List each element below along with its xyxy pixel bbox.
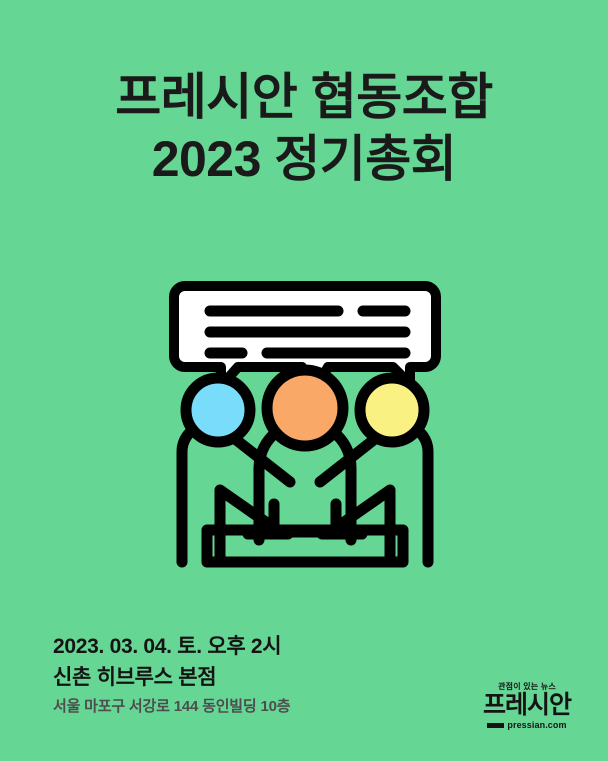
event-venue: 신촌 히브루스 본점 xyxy=(53,662,433,694)
table-shape xyxy=(207,530,403,562)
meeting-illustration xyxy=(160,272,450,572)
person-center xyxy=(248,370,362,540)
event-address: 서울 마포구 서강로 144 동인빌딩 10층 xyxy=(53,694,433,720)
event-date: 2023. 03. 04. 토. 오후 2시 xyxy=(53,632,433,662)
page-title: 프레시안 협동조합 2023 정기총회 xyxy=(0,66,608,190)
logo-bar-icon xyxy=(487,723,504,728)
logo-url-row: pressian.com xyxy=(478,720,576,731)
title-line-1: 프레시안 협동조합 xyxy=(0,66,608,128)
title-line-2: 2023 정기총회 xyxy=(0,128,608,190)
logo-url: pressian.com xyxy=(507,720,566,731)
poster-canvas: 프레시안 협동조합 2023 정기총회 xyxy=(0,0,608,761)
logo-name: 프레시안 xyxy=(478,692,576,719)
pressian-logo: 관점이 있는 뉴스 프레시안 pressian.com xyxy=(478,682,576,731)
event-details: 2023. 03. 04. 토. 오후 2시 신촌 히브루스 본점 서울 마포구… xyxy=(53,632,433,720)
